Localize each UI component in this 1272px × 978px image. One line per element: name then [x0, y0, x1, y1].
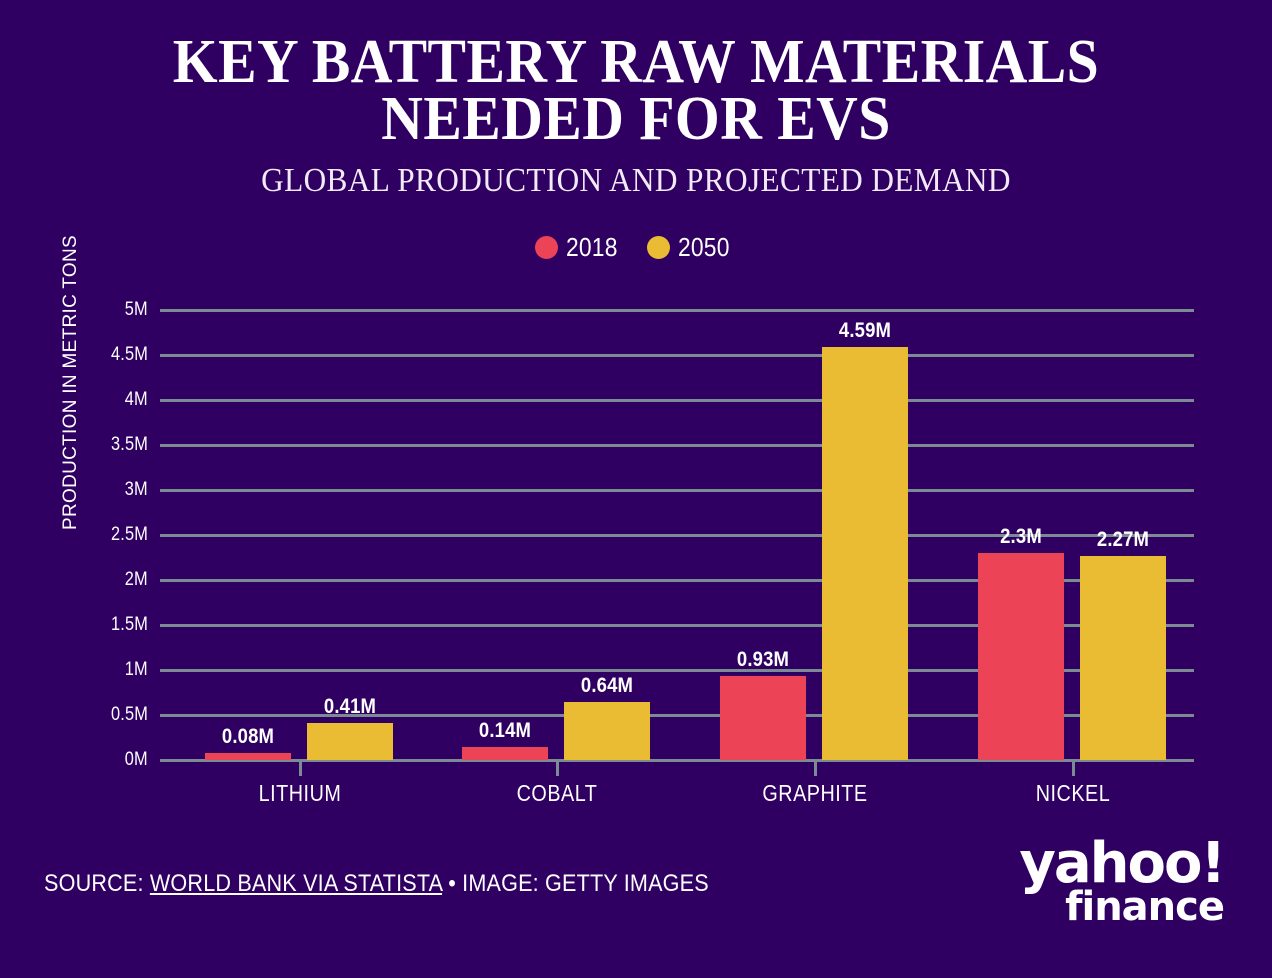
page-subtitle: GLOBAL PRODUCTION AND PROJECTED DEMAND	[51, 162, 1221, 200]
x-axis-label-lithium: LITHIUM	[259, 780, 342, 807]
bar-value-label: 2.3M	[1000, 525, 1042, 549]
bar-graphite-2050[interactable]: 4.59M	[822, 347, 908, 760]
page-title: KEY BATTERY RAW MATERIALS NEEDED FOR EVs	[97, 34, 1176, 148]
legend-item-2050: 2050	[647, 232, 737, 263]
legend-item-2018: 2018	[535, 232, 625, 263]
bar-cobalt-2018[interactable]: 0.14M	[462, 747, 548, 760]
bar-value-label: 0.64M	[581, 674, 633, 698]
legend-label-2050: 2050	[678, 232, 730, 263]
bar-nickel-2018[interactable]: 2.3M	[978, 553, 1064, 760]
source-credit: SOURCE: WORLD BANK VIA STATISTA • IMAGE:…	[44, 870, 709, 898]
gridline	[160, 534, 1194, 537]
bar-nickel-2050[interactable]: 2.27M	[1080, 556, 1166, 760]
bar-value-label: 0.41M	[324, 695, 376, 719]
gridline	[160, 309, 1194, 312]
yahoo-finance-logo: yahoo! finance	[994, 840, 1224, 926]
x-axis-tick	[1072, 760, 1075, 776]
x-axis-tick	[814, 760, 817, 776]
gridline	[160, 354, 1194, 357]
plot-area: 0M0.5M1M1.5M2M2.5M3M3.5M4M4.5M5M0.08M0.4…	[160, 310, 1194, 760]
bar-lithium-2018[interactable]: 0.08M	[205, 753, 291, 760]
y-axis-tick-label: 4M	[125, 389, 148, 411]
x-axis-label-cobalt: COBALT	[517, 780, 598, 807]
gridline	[160, 489, 1194, 492]
bar-value-label: 4.59M	[839, 319, 891, 343]
gridline	[160, 444, 1194, 447]
source-link[interactable]: WORLD BANK VIA STATISTA	[150, 870, 442, 897]
bar-value-label: 0.14M	[479, 719, 531, 743]
gridline	[160, 714, 1194, 717]
bar-group-nickel: 2.3M2.27MNICKEL	[978, 310, 1166, 760]
x-axis-label-nickel: NICKEL	[1036, 780, 1111, 807]
y-axis-title: PRODUCTION IN METRIC TONS	[60, 235, 82, 530]
y-axis-tick-label: 2.5M	[111, 524, 148, 546]
bar-value-label: 0.93M	[737, 648, 789, 672]
bar-value-label: 2.27M	[1097, 528, 1149, 552]
x-axis-tick	[556, 760, 559, 776]
bar-group-lithium: 0.08M0.41MLITHIUM	[205, 310, 393, 760]
gridline	[160, 579, 1194, 582]
brand-yahoo-text: yahoo!	[994, 840, 1224, 888]
chart-legend: 2018 2050	[0, 232, 1272, 263]
y-axis-tick-label: 2M	[125, 569, 148, 591]
y-axis-tick-label: 3.5M	[111, 434, 148, 456]
legend-dot-icon-2050	[647, 236, 670, 259]
source-prefix: SOURCE:	[44, 870, 150, 897]
gridline	[160, 624, 1194, 627]
legend-label-2018: 2018	[566, 232, 618, 263]
bar-graphite-2018[interactable]: 0.93M	[720, 676, 806, 760]
x-axis-tick	[299, 760, 302, 776]
bar-group-graphite: 0.93M4.59MGRAPHITE	[720, 310, 908, 760]
source-suffix: • IMAGE: GETTY IMAGES	[442, 870, 709, 897]
y-axis-tick-label: 3M	[125, 479, 148, 501]
y-axis-tick-label: 1.5M	[111, 614, 148, 636]
y-axis-tick-label: 4.5M	[111, 344, 148, 366]
gridline	[160, 669, 1194, 672]
legend-dot-icon-2018	[535, 236, 558, 259]
x-axis-label-graphite: GRAPHITE	[762, 780, 867, 807]
gridline	[160, 759, 1194, 762]
y-axis-tick-label: 1M	[125, 659, 148, 681]
y-axis-tick-label: 0M	[125, 749, 148, 771]
chart-header: KEY BATTERY RAW MATERIALS NEEDED FOR EVs…	[0, 0, 1272, 200]
bar-lithium-2050[interactable]: 0.41M	[307, 723, 393, 760]
bar-group-cobalt: 0.14M0.64MCOBALT	[462, 310, 650, 760]
bar-value-label: 0.08M	[222, 725, 274, 749]
bar-cobalt-2050[interactable]: 0.64M	[564, 702, 650, 760]
gridline	[160, 399, 1194, 402]
y-axis-tick-label: 5M	[125, 299, 148, 321]
y-axis-tick-label: 0.5M	[111, 704, 148, 726]
